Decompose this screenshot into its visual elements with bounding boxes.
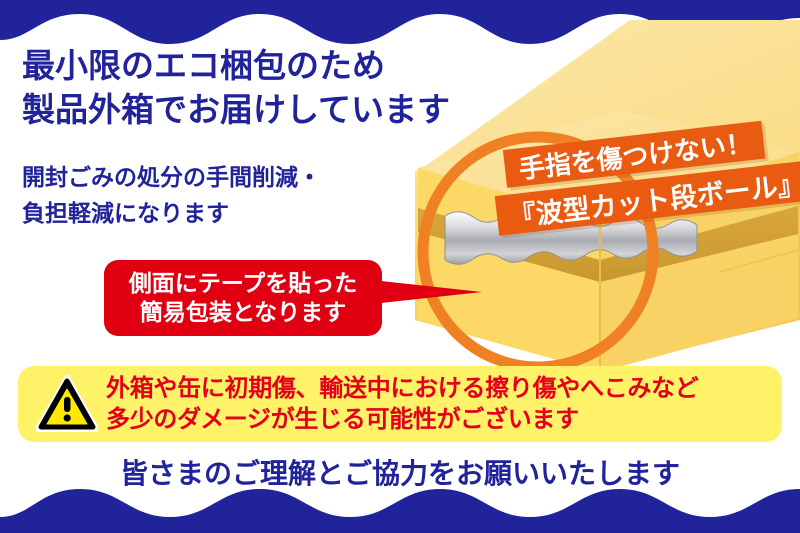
callout-line-2: 簡易包装となります — [140, 298, 346, 327]
subheadline-line-1: 開封ごみの処分の手間削減・ — [22, 160, 321, 196]
callout-pointer-arrow — [372, 280, 482, 304]
warning-text: 外箱や缶に初期傷、輸送中における擦り傷やへこみなど 多少のダメージが生じる可能性… — [106, 373, 699, 435]
subheadline-line-2: 負担軽減になります — [22, 196, 229, 232]
closing-message: 皆さまのご理解とご協力をお願いいたします — [0, 452, 800, 492]
eco-packaging-banner: 最小限のエコ梱包のため 製品外箱でお届けしています 開封ごみの処分の手間削減・ … — [0, 0, 800, 533]
callout-side-tape: 側面にテープを貼った 簡易包装となります — [104, 260, 382, 336]
warning-line-1: 外箱や缶に初期傷、輸送中における擦り傷やへこみなど — [106, 373, 699, 404]
page-title: 最小限のエコ梱包のため 製品外箱でお届けしています — [22, 44, 542, 131]
subheadline: 開封ごみの処分の手間削減・ 負担軽減になります — [22, 160, 321, 232]
headline-line-1: 最小限のエコ梱包のため — [22, 44, 542, 88]
warning-line-2: 多少のダメージが生じる可能性がございます — [106, 404, 699, 435]
warning-triangle-icon — [36, 375, 98, 433]
warning-notice: 外箱や缶に初期傷、輸送中における擦り傷やへこみなど 多少のダメージが生じる可能性… — [18, 366, 782, 442]
callout-line-1: 側面にテープを貼った — [129, 269, 358, 298]
headline-line-2: 製品外箱でお届けしています — [22, 88, 542, 132]
